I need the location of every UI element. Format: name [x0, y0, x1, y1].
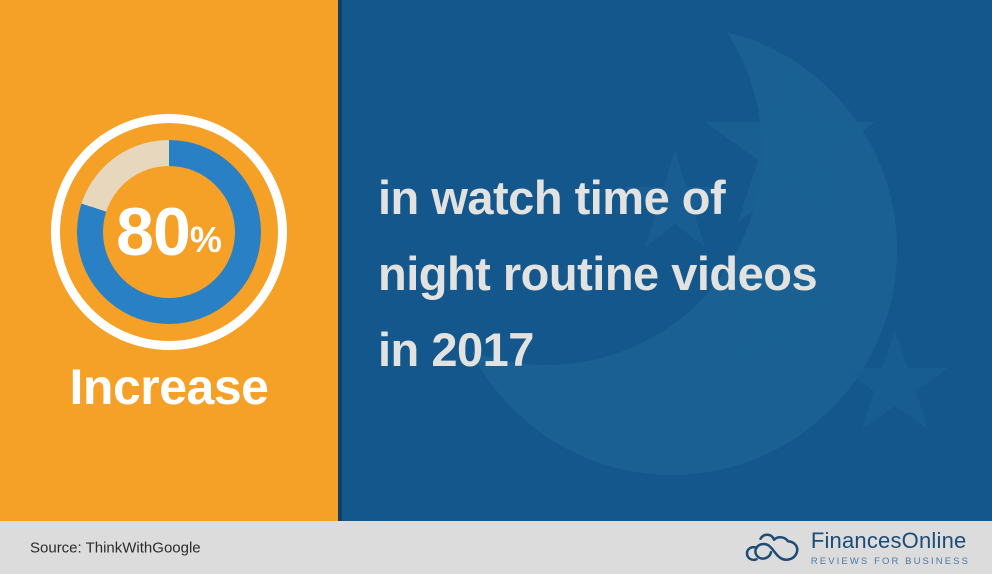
stat-value: 80 [116, 198, 190, 266]
stat-unit: % [190, 222, 222, 258]
headline-panel: in watch time of night routine videos in… [342, 0, 992, 521]
brand-logo[interactable]: FinancesOnline REVIEWS FOR BUSINESS [743, 529, 970, 566]
headline: in watch time of night routine videos in… [378, 160, 978, 388]
brand-name: FinancesOnline [811, 529, 970, 551]
headline-line-1: in watch time of [378, 160, 978, 236]
cloud-infinity-icon [743, 531, 801, 565]
infographic-card: 80% Increase in watch t [0, 0, 992, 574]
headline-line-2: night routine videos [378, 236, 978, 312]
donut-center-label: 80% [51, 114, 287, 350]
footer-bar: Source: ThinkWithGoogle FinancesOnline R… [0, 521, 992, 574]
donut-chart: 80% [51, 114, 287, 350]
source-label: Source: ThinkWithGoogle [30, 539, 201, 556]
stat-panel: 80% Increase [0, 0, 338, 521]
brand-tagline: REVIEWS FOR BUSINESS [811, 556, 970, 566]
stat-caption: Increase [0, 358, 338, 416]
headline-line-3: in 2017 [378, 312, 978, 388]
brand-text: FinancesOnline REVIEWS FOR BUSINESS [811, 529, 970, 566]
